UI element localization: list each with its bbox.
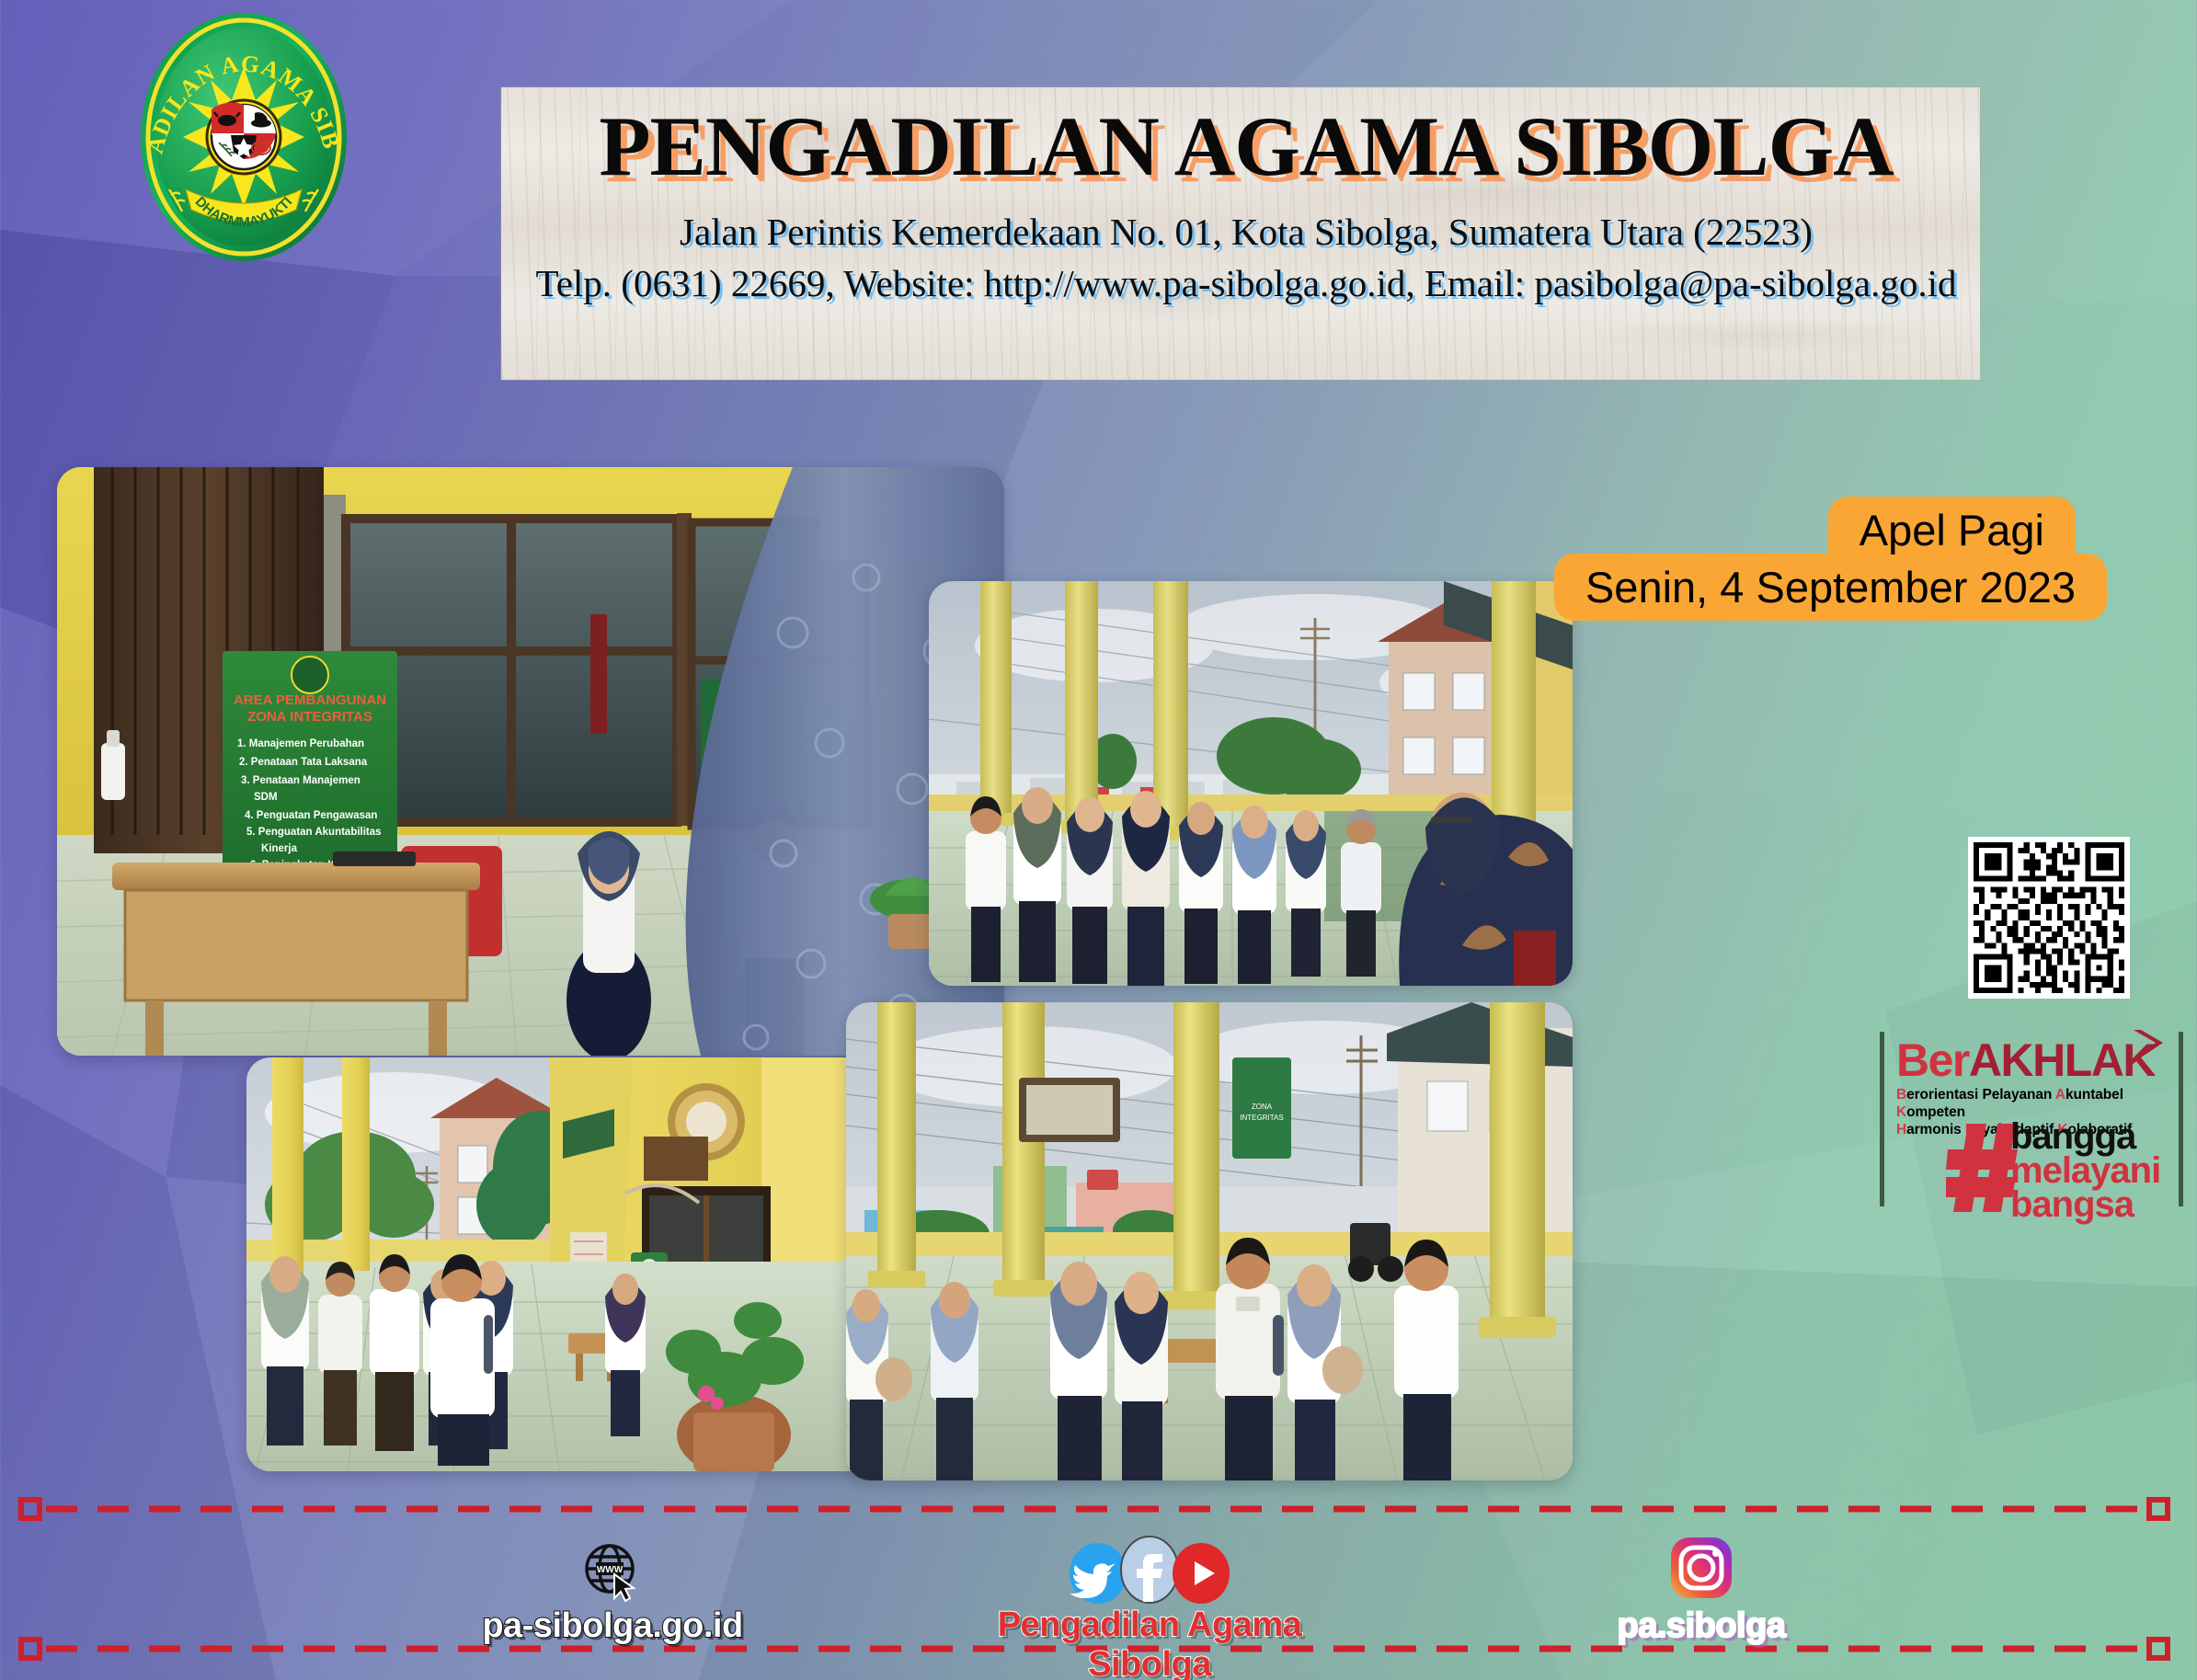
event-badge-line1: Apel Pagi [1828,497,2076,557]
hashtag-icon [1946,1122,2018,1214]
footer-instagram[interactable]: pa.sibolga [1508,1536,1894,1646]
svg-text:3. Penataan Manajemen: 3. Penataan Manajemen [241,775,360,786]
berakhlak-tagline: bangga melayani bangsa [2010,1120,2160,1223]
divider-dashed-top [29,1504,2168,1514]
photo-lineup-terrace[interactable] [929,581,1573,986]
photo-main-lobby[interactable]: AREA PEMBANGUNANZONA INTEGRITAS 1. Manaj… [57,467,1004,1056]
svg-text:4. Penguatan Pengawasan: 4. Penguatan Pengawasan [245,810,377,821]
svg-text:1. Manajemen Perubahan: 1. Manajemen Perubahan [237,738,364,749]
svg-text:AREA PEMBANGUNAN: AREA PEMBANGUNAN [234,692,386,708]
footer-website-label: pa-sibolga.go.id [447,1606,778,1646]
globe-www-icon: WWW [581,1541,644,1602]
photo-briefing-columns[interactable]: ZONAINTEGRITAS [846,1002,1573,1480]
header-address-line2: Telp. (0631) 22669, Website: http://www.… [515,258,1977,310]
divider-endpoint-right-bottom [2146,1637,2170,1661]
footer-website[interactable]: WWW pa-sibolga.go.id [447,1541,778,1646]
youtube-icon[interactable] [1171,1543,1231,1604]
tagline-bangsa: bangsa [2010,1188,2160,1222]
svg-text:Kinerja: Kinerja [261,843,298,854]
berakhlak-title: BerAKHLAK [1896,1037,2155,1083]
berakhlak-title-akhlak: AKHLAK [1969,1034,2155,1086]
footer-instagram-label: pa.sibolga [1508,1606,1894,1646]
header-address-line1: Jalan Perintis Kemerdekaan No. 01, Kota … [515,207,1977,258]
header-text-block: PENGADILAN AGAMA SIBOLGA Jalan Perintis … [515,101,1977,310]
header: PENGADILAN AGAMA SIBOLGA Jalan Perintis … [0,0,2197,395]
qr-code[interactable] [1968,837,2130,999]
svg-text:INTEGRITAS: INTEGRITAS [1240,1114,1283,1122]
svg-text:SDM: SDM [254,792,278,803]
svg-text:WWW: WWW [597,1565,624,1575]
footer-social-label: Pengadilan Agama Sibolga [956,1606,1343,1680]
tagline-bangga: bangga [2010,1120,2160,1154]
berakhlak-title-ber: Ber [1896,1034,1969,1086]
court-emblem-logo: PENGADILAN AGAMA SIBOLGA [138,9,349,265]
event-date-badge: Apel Pagi Senin, 4 September 2023 [1554,497,2107,621]
divider-endpoint-right-top [2146,1497,2170,1521]
svg-text:5. Penguatan Akuntabilitas: 5. Penguatan Akuntabilitas [246,827,382,838]
divider-endpoint-left-top [18,1497,42,1521]
footer-social[interactable]: Pengadilan Agama Sibolga [956,1536,1343,1680]
svg-text:ZONA INTEGRITAS: ZONA INTEGRITAS [247,709,372,725]
event-badge-line2: Senin, 4 September 2023 [1554,554,2107,621]
svg-text:ZONA: ZONA [1252,1103,1273,1111]
berakhlak-logo-card: BerAKHLAK Berorientasi Pelayanan Akuntab… [1880,1017,2183,1221]
photo-lineup-walkway[interactable]: ZONAINTEGRITAS [246,1057,872,1471]
berakhlak-frame-left [1880,1032,1884,1206]
tagline-melayani: melayani [2010,1154,2160,1188]
svg-text:2. Penataan Tata Laksana: 2. Penataan Tata Laksana [239,757,368,768]
page-title: PENGADILAN AGAMA SIBOLGA [515,101,1977,192]
divider-endpoint-left-bottom [18,1637,42,1661]
instagram-icon[interactable] [1669,1536,1734,1600]
